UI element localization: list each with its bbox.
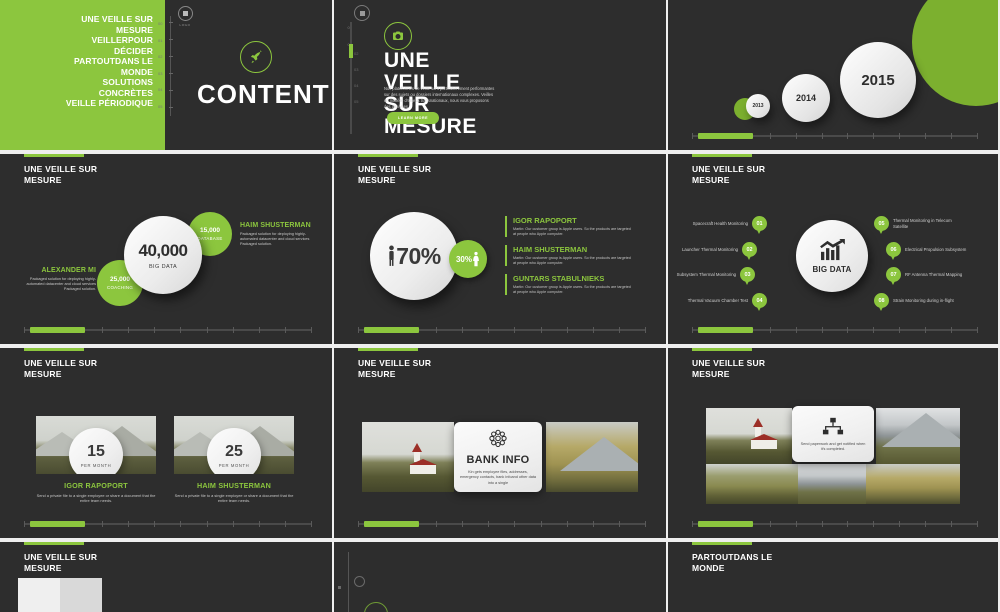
accent-bar (24, 154, 84, 157)
card-desc: Send a private file to a single employee… (174, 493, 294, 504)
node-left-2[interactable]: Launcher Thermal Monitoring 02 (674, 242, 757, 257)
photo-top-right (876, 408, 960, 464)
card-photo: 25 PER MONTH (174, 416, 294, 474)
node-pin: 04 (752, 293, 767, 308)
price-disc: 15 PER MONTH (69, 428, 123, 474)
node-pin: 03 (740, 267, 755, 282)
node-label: Subsystem Thermal Monitoring (672, 272, 736, 278)
content-area: CONTENT (180, 0, 332, 150)
menu-item[interactable]: CONCRÈTES (0, 88, 153, 99)
hero-heading-line: UNE (384, 50, 514, 72)
slide-title: UNE VEILLE SUR MESURE (24, 358, 97, 380)
accent-bar (692, 542, 752, 545)
paperwork-card[interactable]: Send paperwork and get notified when it'… (792, 406, 874, 462)
photo-top-left (706, 408, 792, 464)
card-photo: 15 PER MONTH (36, 416, 156, 474)
accent-bar (692, 154, 752, 157)
female-icon (472, 251, 480, 268)
rocket-icon (240, 41, 272, 73)
slide-11-partial[interactable] (334, 542, 666, 612)
person-name: GUNTARS STABULNIEKS (513, 274, 633, 283)
nav-rail[interactable] (350, 22, 352, 134)
logo-icon[interactable] (354, 5, 370, 21)
stat-value: 25,000 (110, 276, 130, 283)
progress-bar[interactable] (692, 523, 978, 525)
menu-item[interactable]: SOLUTIONS (0, 77, 153, 88)
node-right-2[interactable]: 06 Electrical Propulsion Subsystem (886, 242, 969, 257)
slide-title: UNE VEILLE SUR MESURE (358, 358, 431, 380)
percent-value: 70% (396, 243, 441, 270)
nav-number: 03 (354, 62, 366, 78)
progress-fill (30, 327, 85, 333)
price-disc: 25 PER MONTH (207, 428, 261, 474)
pricing-card[interactable]: 15 PER MONTH IGOR RAPOPORT Send a privat… (36, 416, 156, 504)
node-label: RF Antenna Thermal Mapping (905, 272, 969, 278)
progress-bar[interactable] (358, 329, 646, 331)
slide-title: UNE VEILLE SUR MESURE (24, 552, 97, 574)
photo-bottom-mid (798, 464, 866, 504)
green-arc-decor (364, 602, 388, 612)
node-right-4[interactable]: 08 Strain Monitoring during in-flight (874, 293, 957, 308)
slide-title: UNE VEILLE SUR MESURE (358, 164, 431, 186)
flower-gear-icon (487, 428, 509, 449)
price-unit: PER MONTH (219, 463, 250, 468)
node-pin: 05 (874, 216, 889, 231)
page-title: CONTENT (197, 79, 315, 109)
menu-item[interactable]: UNE VEILLE SUR (0, 14, 153, 25)
progress-fill (698, 521, 753, 527)
slide-title: UNE VEILLE SUR MESURE (692, 164, 765, 186)
stat-key: COACHING (107, 285, 133, 290)
menu-number: 02 (158, 49, 170, 66)
node-label: Launcher Thermal Monitoring (674, 247, 738, 253)
price-unit: PER MONTH (81, 463, 112, 468)
person-desc: Martin: Our customer group is Apple user… (513, 227, 633, 237)
menu-number: 00 (158, 16, 170, 33)
list-item[interactable]: IGOR RAPOPORT Martin: Our customer group… (505, 216, 633, 237)
progress-fill (364, 521, 419, 527)
node-pin: 06 (886, 242, 901, 257)
menu-list[interactable]: UNE VEILLE SUR MESURE VEILLERPOUR DÉCIDE… (0, 14, 153, 109)
photo-left (362, 422, 454, 492)
hero-body-text: Nos plateformes de veille sont particuli… (384, 86, 496, 110)
node-label: Electrical Propulsion Subsystem (905, 247, 969, 253)
nav-number: 05 (354, 94, 366, 110)
card-name: HAIM SHUSTERMAN (174, 481, 294, 490)
slide-title: PARTOUTDANS LE MONDE (692, 552, 772, 574)
hub-label: BIG DATA (812, 265, 851, 274)
menu-item[interactable]: MESURE (0, 25, 153, 36)
node-label: Strain Monitoring during in-flight (893, 298, 957, 304)
slide-5-gender-split[interactable]: UNE VEILLE SUR MESURE 70% 30% IGOR RAPOP… (334, 154, 666, 344)
node-label: Thermal Vacuum Chamber Test (684, 298, 748, 304)
progress-bar[interactable] (692, 135, 978, 137)
card-desc: Send paperwork and get notified when it'… (798, 442, 868, 453)
node-label: Thermal Monitoring in Telecom Satellite (893, 218, 957, 230)
bubble-decor-large (912, 0, 998, 106)
accent-bar (358, 348, 418, 351)
accent-bar (692, 348, 752, 351)
male-icon (387, 245, 396, 267)
progress-bar[interactable] (24, 523, 312, 525)
bubble-2013[interactable]: 2013 (746, 94, 770, 118)
slide-grid: UNE VEILLE SUR MESURE VEILLERPOUR DÉCIDE… (0, 0, 1000, 600)
slide-title: UNE VEILLE SUR MESURE (24, 164, 97, 186)
menu-item[interactable]: VEILLE PÉRIODIQUE (0, 98, 153, 109)
pricing-card[interactable]: 25 PER MONTH HAIM SHUSTERMAN Send a priv… (174, 416, 294, 504)
accent-bar (358, 154, 418, 157)
org-chart-icon (822, 416, 844, 438)
node-left-4[interactable]: Thermal Vacuum Chamber Test 04 (684, 293, 767, 308)
slide-4-bigdata-stats[interactable]: UNE VEILLE SUR MESURE 15,000 DATABASE 25… (0, 154, 332, 344)
learn-more-button[interactable]: LEARN MORE (387, 112, 439, 124)
person-desc: Martin: Our customer group is Apple user… (513, 285, 633, 295)
card-name: IGOR RAPOPORT (36, 481, 156, 490)
stat-text-left: ALEXANDER MI Packaged solution for deplo… (14, 267, 96, 293)
stat-name: HAIM SHUSTERMAN (240, 222, 322, 229)
stat-bubble-main[interactable]: 40,000 BIG DATA (124, 216, 202, 294)
node-pin: 01 (752, 216, 767, 231)
slide-title: UNE VEILLE SUR MESURE (692, 358, 765, 380)
stat-desc: Packaged solution for deploying highly-a… (240, 232, 322, 248)
progress-bar[interactable] (24, 329, 312, 331)
marker-square (338, 586, 341, 589)
accent-bar (24, 542, 84, 545)
card-desc: Send a private file to a single employee… (36, 493, 156, 504)
menu-item[interactable]: VEILLERPOUR (0, 35, 153, 46)
percent-circle-female[interactable]: 30% (449, 240, 487, 278)
menu-number-column: 00 01 02 03 04 05 (158, 16, 170, 115)
percent-circle-male[interactable]: 70% (370, 212, 458, 300)
price-value: 25 (225, 443, 243, 461)
slide-1-menu[interactable]: UNE VEILLE SUR MESURE VEILLERPOUR DÉCIDE… (0, 0, 332, 150)
list-item[interactable]: GUNTARS STABULNIEKS Martin: Our customer… (505, 274, 633, 295)
slide-2-hero[interactable]: 00 01 02 03 04 05 UNE VEILLE SUR MESURE … (334, 0, 666, 150)
list-item[interactable]: HAIM SHUSTERMAN Martin: Our customer gro… (505, 245, 633, 266)
progress-bar[interactable] (358, 523, 646, 525)
photo-right (546, 422, 638, 492)
node-left-3[interactable]: Subsystem Thermal Monitoring 03 (672, 267, 755, 282)
menu-item[interactable]: PARTOUTDANS LE (0, 56, 153, 67)
node-right-1[interactable]: 05 Thermal Monitoring in Telecom Satelli… (874, 216, 957, 231)
slide-10-partial[interactable]: UNE VEILLE SUR MESURE (0, 542, 332, 612)
node-label: Spacecraft Health Monitoring (684, 221, 748, 227)
person-name: HAIM SHUSTERMAN (513, 245, 633, 254)
bubble-2015[interactable]: 2015 (840, 42, 916, 118)
photo-bottom-left (706, 464, 798, 504)
card-title: BANK INFO (467, 454, 530, 466)
slide-8-bank-info[interactable]: UNE VEILLE SUR MESURE BANK INFO Kin gets… (334, 348, 666, 538)
slide-7-pricing[interactable]: UNE VEILLE SUR MESURE 15 PER MONTH IGOR … (0, 348, 332, 538)
nav-rail-active (349, 44, 353, 58)
camera-icon (384, 22, 412, 50)
stat-desc: Packaged solution for deploying highly-a… (14, 277, 96, 293)
nav-rail[interactable] (348, 552, 349, 612)
stat-key: BIG DATA (149, 264, 177, 270)
stat-value: 15,000 (200, 227, 220, 234)
node-pin: 07 (886, 267, 901, 282)
progress-fill (698, 327, 753, 333)
stat-key: DATABASE (197, 236, 222, 241)
percent-value: 30% (456, 255, 472, 264)
bank-info-card[interactable]: BANK INFO Kin gets employee files, addre… (454, 422, 542, 492)
slide-12-partial[interactable]: PARTOUTDANS LE MONDE (668, 542, 998, 612)
stat-name: ALEXANDER MI (14, 267, 96, 274)
menu-number: 01 (158, 33, 170, 50)
price-value: 15 (87, 443, 105, 461)
vertical-divider (170, 16, 171, 116)
slide-6-bigdata-diagram[interactable]: UNE VEILLE SUR MESURE BIG DATA Spacecraf… (668, 154, 998, 344)
progress-fill (698, 133, 753, 139)
person-list: IGOR RAPOPORT Martin: Our customer group… (505, 216, 633, 303)
bubble-2014[interactable]: 2014 (782, 74, 830, 122)
node-right-3[interactable]: 07 RF Antenna Thermal Mapping (886, 267, 969, 282)
accent-bar (24, 348, 84, 351)
progress-fill (364, 327, 419, 333)
nav-number: 02 (354, 46, 366, 62)
slide-3-timeline[interactable]: 2013 2014 2015 (668, 0, 998, 150)
menu-item[interactable]: MONDE (0, 67, 153, 78)
stat-text-right: HAIM SHUSTERMAN Packaged solution for de… (240, 222, 322, 248)
inner-number-column: 02 03 04 05 (354, 46, 366, 110)
node-left-1[interactable]: Spacecraft Health Monitoring 01 (684, 216, 767, 231)
mini-cards (18, 578, 102, 612)
slide-9-paperwork[interactable]: UNE VEILLE SUR MESURE Send paperwork and… (668, 348, 998, 538)
card-desc: Kin gets employee files, addresses, emer… (460, 470, 536, 486)
progress-fill (30, 521, 85, 527)
progress-bar[interactable] (692, 329, 978, 331)
node-pin: 08 (874, 293, 889, 308)
nav-number: 04 (354, 78, 366, 94)
logo-icon (354, 576, 365, 587)
person-desc: Martin: Our customer group is Apple user… (513, 256, 633, 266)
node-pin: 02 (742, 242, 757, 257)
stat-value: 40,000 (139, 241, 188, 261)
person-name: IGOR RAPOPORT (513, 216, 633, 225)
photo-bottom-right (866, 464, 960, 504)
hub-node[interactable]: BIG DATA (796, 220, 868, 292)
bar-chart-arrow-icon (819, 239, 845, 261)
menu-item[interactable]: DÉCIDER (0, 46, 153, 57)
